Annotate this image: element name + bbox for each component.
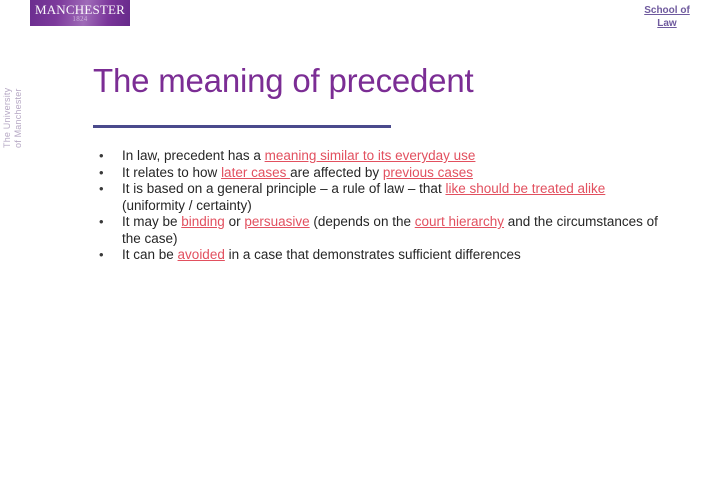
highlighted-phrase: avoided: [178, 247, 225, 262]
list-item-text: It relates to how later cases are affect…: [122, 165, 682, 182]
bullet-marker-icon: •: [96, 165, 122, 182]
plain-phrase: It may be: [122, 214, 181, 229]
manchester-logo: MANCHESTER 1824: [30, 0, 130, 26]
highlighted-phrase: like should be treated alike: [445, 181, 605, 196]
highlighted-phrase: later cases: [221, 165, 290, 180]
list-item-text: In law, precedent has a meaning similar …: [122, 148, 682, 165]
bullet-list: • In law, precedent has a meaning simila…: [96, 148, 698, 264]
highlighted-phrase: meaning similar to its everyday use: [265, 148, 476, 163]
list-item: • In law, precedent has a meaning simila…: [96, 148, 698, 165]
bullet-marker-icon: •: [96, 148, 122, 165]
plain-phrase: In law, precedent has a: [122, 148, 265, 163]
bullet-marker-icon: •: [96, 247, 122, 264]
vertical-wordmark-line-1: The University: [2, 28, 13, 148]
list-item: • It is based on a general principle – a…: [96, 181, 698, 214]
plain-phrase: (uniformity / certainty): [122, 198, 252, 213]
vertical-wordmark-line-2: of Manchester: [13, 28, 24, 148]
highlighted-phrase: persuasive: [244, 214, 309, 229]
title-underline-rule: [93, 125, 391, 128]
plain-phrase: in a case that demonstrates sufficient d…: [225, 247, 521, 262]
page-title: The meaning of precedent: [93, 62, 473, 100]
list-item-text: It can be avoided in a case that demonst…: [122, 247, 682, 264]
list-item: • It may be binding or persuasive (depen…: [96, 214, 698, 247]
university-vertical-wordmark: The University of Manchester: [2, 28, 28, 148]
presentation-slide: MANCHESTER 1824 The University of Manche…: [0, 0, 720, 498]
bullet-marker-icon: •: [96, 181, 122, 198]
list-item: • It can be avoided in a case that demon…: [96, 247, 698, 264]
school-mark-line-1: School of: [624, 4, 710, 17]
bullet-marker-icon: •: [96, 214, 122, 231]
highlighted-phrase: court hierarchy: [415, 214, 504, 229]
school-of-law-mark: School of Law: [624, 4, 710, 30]
plain-phrase: or: [225, 214, 245, 229]
logo-year: 1824: [72, 16, 87, 23]
list-item-text: It may be binding or persuasive (depends…: [122, 214, 662, 247]
highlighted-phrase: binding: [181, 214, 225, 229]
plain-phrase: are affected by: [290, 165, 383, 180]
list-item-text: It is based on a general principle – a r…: [122, 181, 644, 214]
highlighted-phrase: previous cases: [383, 165, 473, 180]
school-mark-line-2: Law: [624, 17, 710, 30]
plain-phrase: It can be: [122, 247, 178, 262]
plain-phrase: It relates to how: [122, 165, 221, 180]
plain-phrase: (depends on the: [310, 214, 415, 229]
plain-phrase: It is based on a general principle – a r…: [122, 181, 445, 196]
list-item: • It relates to how later cases are affe…: [96, 165, 698, 182]
